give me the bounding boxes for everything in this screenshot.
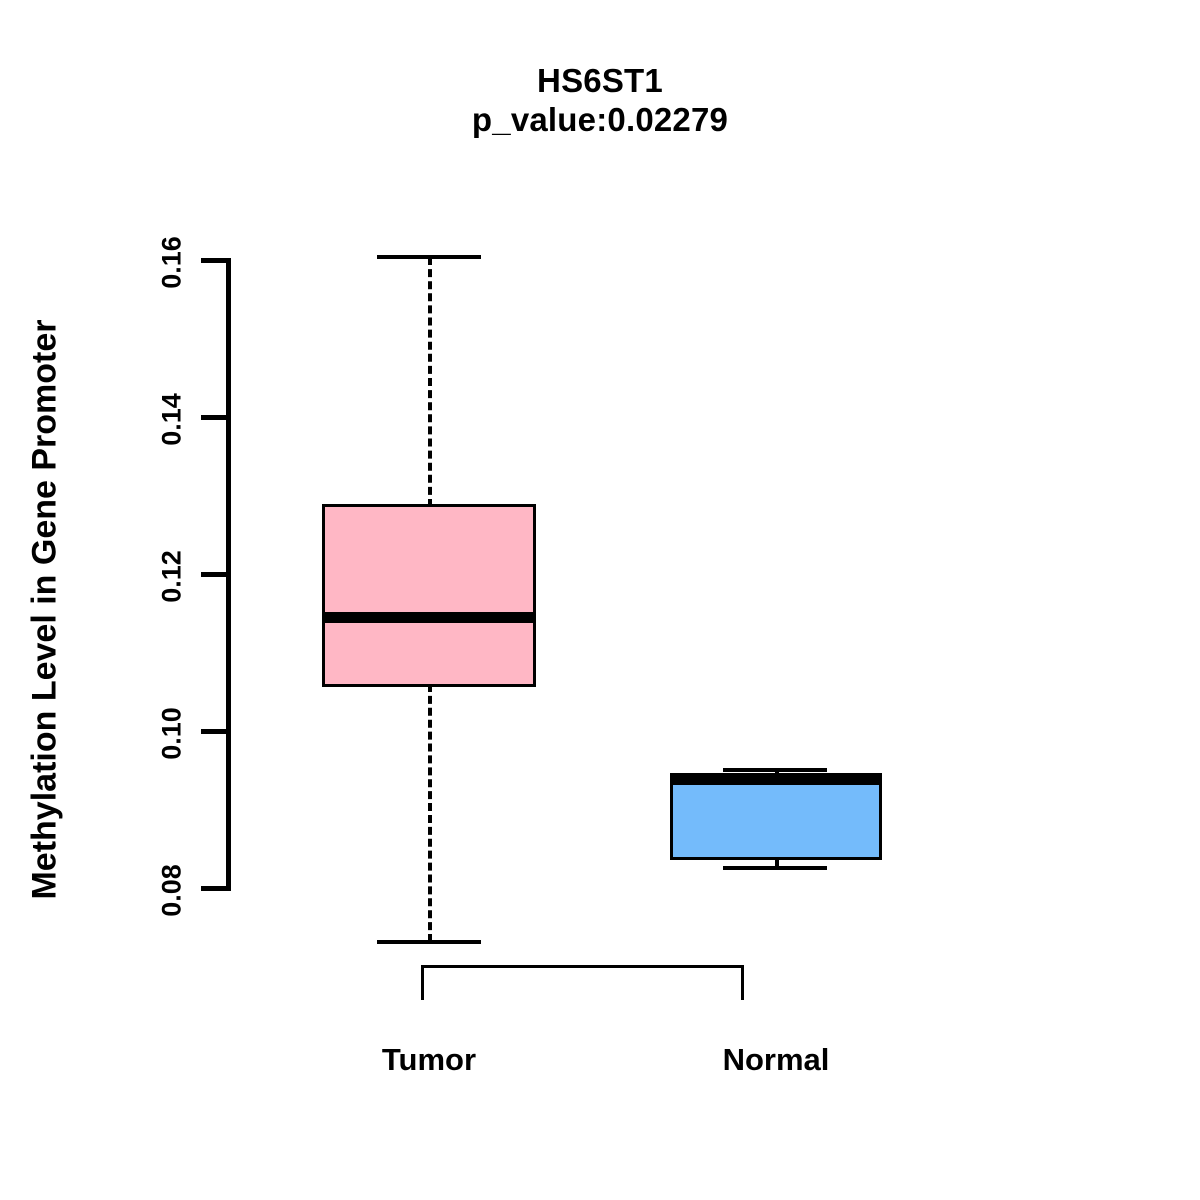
x-label-tumor: Tumor [309, 1042, 549, 1078]
tumor-median-line [322, 612, 536, 623]
page-title: HS6ST1 [0, 62, 1200, 101]
y-axis-tick-mark-0-08 [201, 886, 229, 891]
y-tick-label-0-14: 0.14 [157, 360, 188, 480]
normal-box[interactable] [670, 773, 882, 860]
y-tick-label-0-08: 0.08 [157, 831, 188, 951]
y-tick-label-0-16: 0.16 [157, 203, 188, 323]
comparison-bracket-top [421, 965, 744, 968]
y-axis-tick-mark-0-16 [201, 258, 229, 263]
tumor-upper-whisker-cap [377, 255, 481, 259]
x-label-normal: Normal [656, 1042, 896, 1078]
y-tick-label-0-10: 0.10 [157, 674, 188, 794]
normal-upper-whisker-cap [723, 768, 827, 772]
y-tick-label-0-12: 0.12 [157, 517, 188, 637]
tumor-lower-whisker-line [428, 684, 432, 942]
chart-subtitle-pvalue: p_value:0.02279 [0, 101, 1200, 140]
normal-median-line [670, 773, 882, 785]
tumor-lower-whisker-cap [377, 940, 481, 944]
chart-title-block: HS6ST1 p_value:0.02279 [0, 62, 1200, 140]
y-axis-tick-mark-0-14 [201, 415, 229, 420]
tumor-upper-whisker-line [428, 257, 432, 507]
boxplot-figure: HS6ST1 p_value:0.02279 Methylation Level… [0, 0, 1200, 1200]
comparison-bracket-left-arm [421, 965, 424, 1000]
y-axis-tick-mark-0-10 [201, 729, 229, 734]
y-axis-label: Methylation Level in Gene Promoter [26, 190, 65, 1030]
comparison-bracket-right-arm [741, 965, 744, 1000]
y-axis-tick-mark-0-12 [201, 572, 229, 577]
normal-lower-whisker-cap [723, 866, 827, 870]
tumor-box[interactable] [322, 504, 536, 687]
